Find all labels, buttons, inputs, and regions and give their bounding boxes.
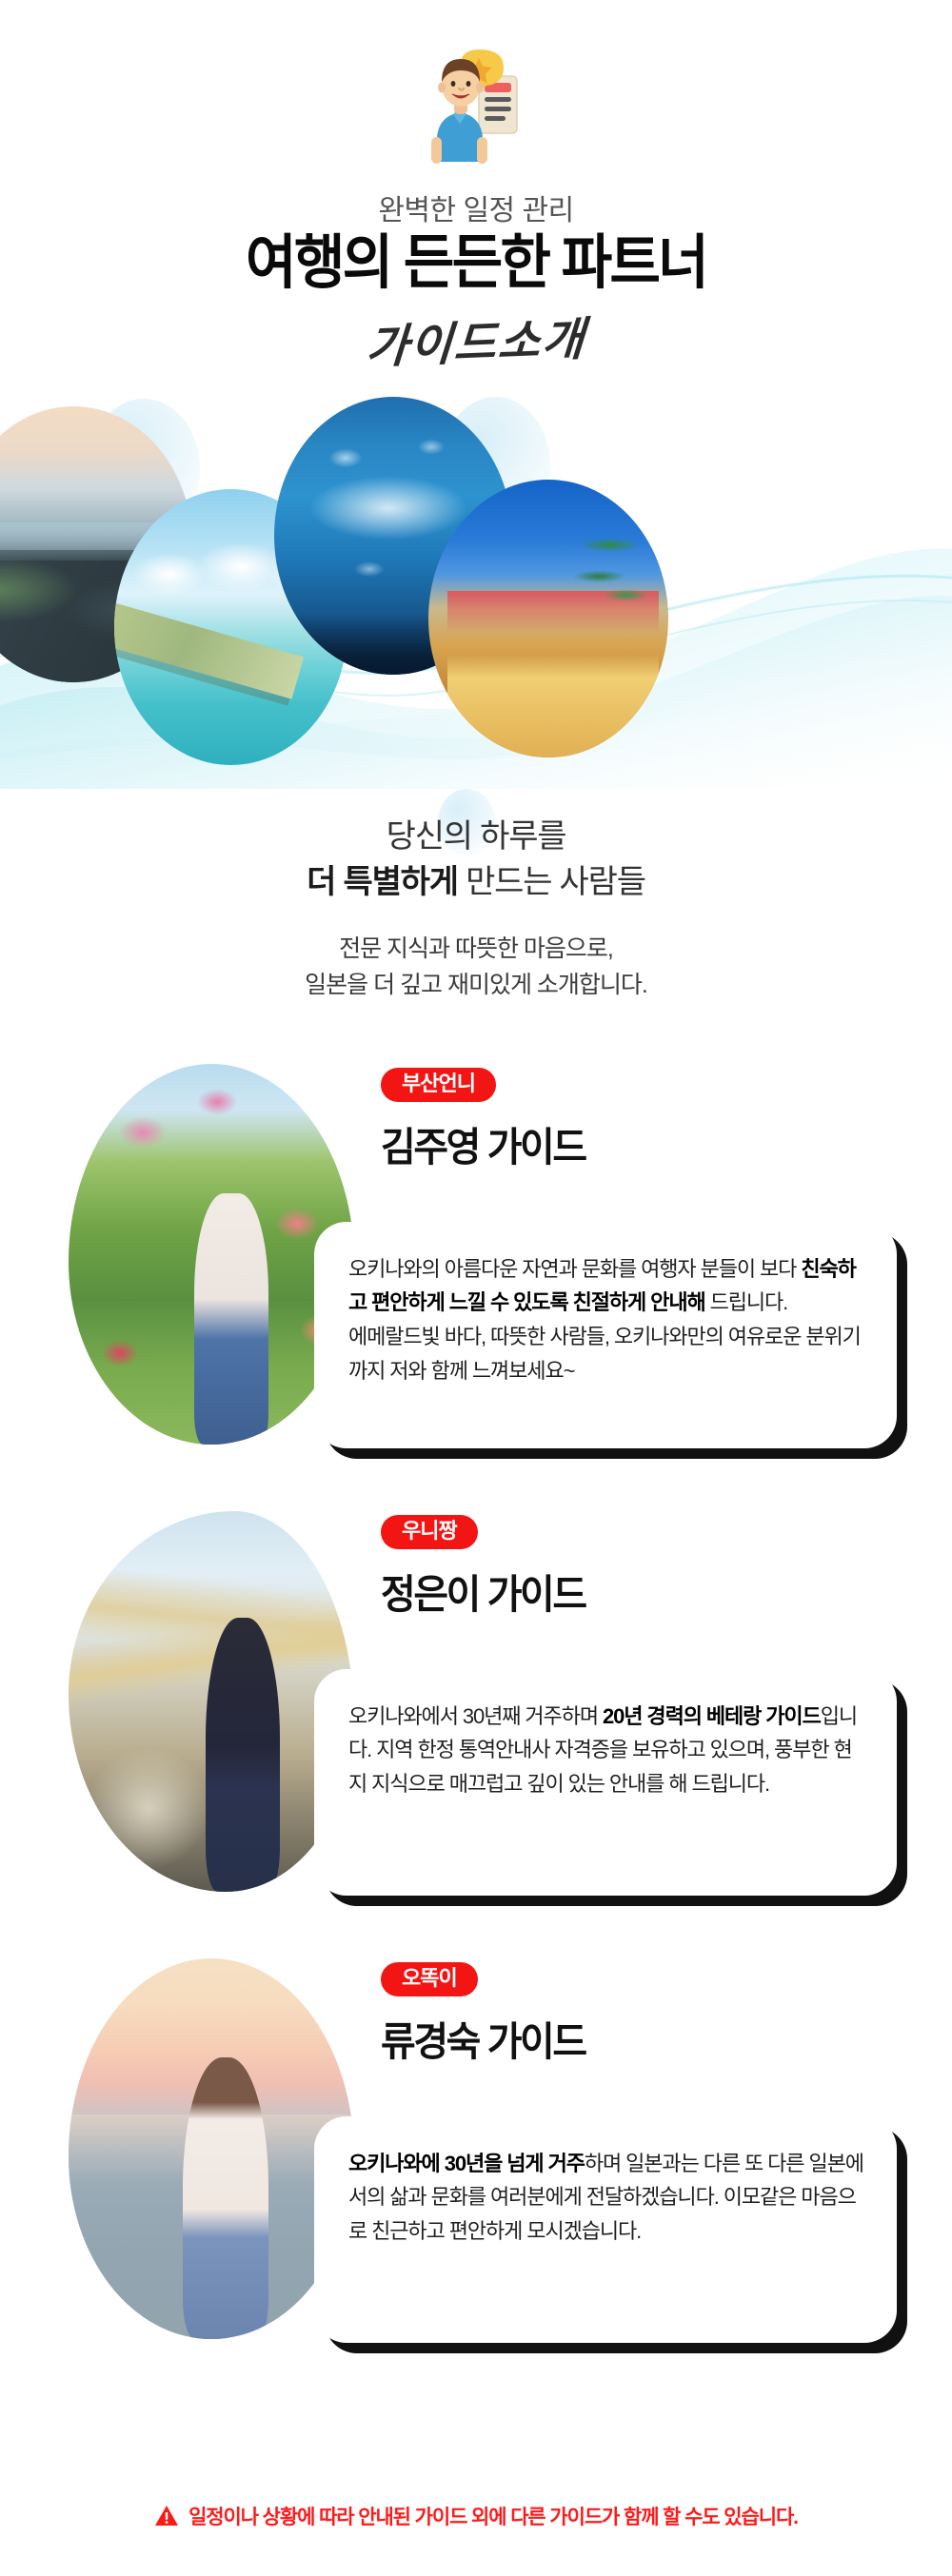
lead-section: 당신의 하루를 더 특별하게 만드는 사람들 전문 지식과 따뜻한 마음으로, … (0, 814, 952, 1003)
guide-name: 류경숙 가이드 (381, 2010, 869, 2068)
page-title: 여행의 든든한 파트너 (29, 232, 923, 294)
guide-photo-sunset-seaside (69, 1958, 354, 2339)
guide-badge: 우니짱 (381, 1515, 478, 1549)
guide-card[interactable]: 우니짱 정은이 가이드 오키나와에서 30년째 거주하며 20년 경력의 베테랑… (0, 1505, 952, 1953)
guide-badge: 부산언니 (381, 1068, 496, 1102)
footer-notice: 일정이나 상황에 따라 안내된 가이드 외에 다른 가이드가 함께 할 수도 있… (0, 2502, 952, 2530)
hero-eyebrow: 완벽한 일정 관리 (0, 194, 952, 228)
guide-badge: 오똑이 (381, 1962, 478, 1996)
lead-line-2: 더 특별하게 만드는 사람들 (0, 859, 952, 905)
guide-card[interactable]: 부산언니 김주영 가이드 오키나와의 아름다운 자연과 문화를 여행자 분들이 … (0, 1058, 952, 1505)
guide-photo-illumination-garden (69, 1511, 354, 1892)
photo-strip (0, 389, 952, 789)
guide-info: 오똑이 류경숙 가이드 (381, 1962, 895, 2068)
guide-description: 오키나와에 30년을 넘게 거주하며 일본과는 다른 또 다른 일본에서의 삶과… (348, 2147, 864, 2249)
lead-sub-1: 전문 지식과 따뜻한 마음으로, (0, 931, 952, 967)
guide-list: 부산언니 김주영 가이드 오키나와의 아름다운 자연과 문화를 여행자 분들이 … (0, 1058, 952, 2400)
guide-name: 정은이 가이드 (381, 1563, 869, 1621)
guide-description-bubble: 오키나와에 30년을 넘게 거주하며 일본과는 다른 또 다른 일본에서의 삶과… (314, 2116, 897, 2343)
warning-triangle-icon (154, 2504, 179, 2528)
guide-description: 오키나와에서 30년째 거주하며 20년 경력의 베테랑 가이드입니다. 지역 … (348, 1700, 864, 1801)
lead-line-2-rest: 만드는 사람들 (458, 864, 645, 900)
guide-photo-garden-flag (69, 1064, 354, 1445)
lead-sub-2: 일본을 더 깊고 재미있게 소개합니다. (0, 967, 952, 1003)
guide-description-bubble: 오키나와에서 30년째 거주하며 20년 경력의 베테랑 가이드입니다. 지역 … (314, 1669, 897, 1896)
guide-info: 부산언니 김주영 가이드 (381, 1068, 895, 1173)
guide-person-with-star-and-checklist-icon (405, 38, 547, 181)
lead-line-1: 당신의 하루를 (0, 814, 952, 859)
strip-photo-colorful-town-palm (428, 480, 668, 757)
lead-line-2-strong: 더 특별하게 (307, 864, 458, 900)
footer-notice-text: 일정이나 상황에 따라 안내된 가이드 외에 다른 가이드가 함께 할 수도 있… (188, 2502, 798, 2530)
hero-section: 완벽한 일정 관리 여행의 든든한 파트너 가이드소개 (0, 0, 952, 372)
guide-intro-page: 완벽한 일정 관리 여행의 든든한 파트너 가이드소개 (0, 0, 952, 2576)
guide-name: 김주영 가이드 (381, 1115, 869, 1173)
guide-card[interactable]: 오똑이 류경숙 가이드 오키나와에 30년을 넘게 거주하며 일본과는 다른 또… (0, 1953, 952, 2400)
hero-script-subtitle: 가이드소개 (364, 302, 587, 377)
guide-info: 우니짱 정은이 가이드 (381, 1515, 895, 1621)
guide-description-bubble: 오키나와의 아름다운 자연과 문화를 여행자 분들이 보다 친숙하고 편안하게 … (314, 1222, 897, 1448)
guide-description: 오키나와의 아름다운 자연과 문화를 여행자 분들이 보다 친숙하고 편안하게 … (348, 1252, 864, 1388)
